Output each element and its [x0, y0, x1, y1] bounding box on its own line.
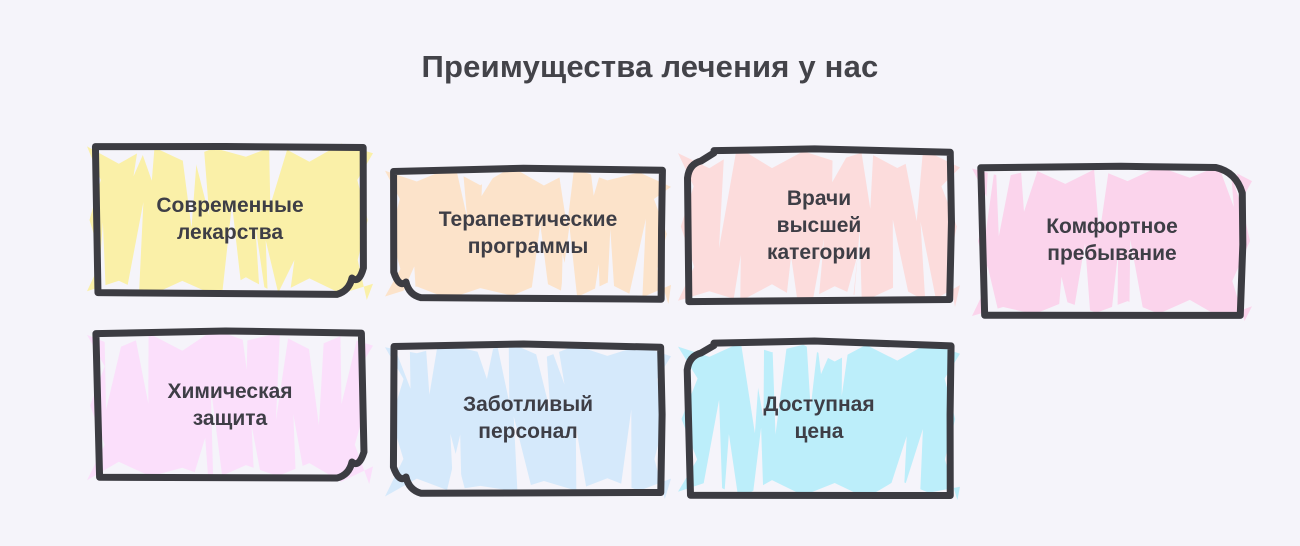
benefit-card-label: Доступная цена: [688, 344, 950, 494]
benefit-card-label: Терапевтические программы: [395, 170, 661, 298]
benefit-cards-grid: Современные лекарстваТерапевтические про…: [0, 0, 1300, 546]
benefit-card-sovremennye-lekarstva[interactable]: Современные лекарства: [97, 146, 363, 294]
benefit-card-zabotlivyy-personal[interactable]: Заботливый персонал: [395, 345, 661, 493]
benefit-card-terapevticheskie-programmy[interactable]: Терапевтические программы: [395, 170, 661, 298]
benefit-card-komfortnoe-prebyvanie[interactable]: Комфортное пребывание: [982, 167, 1242, 315]
benefit-card-label: Заботливый персонал: [395, 345, 661, 493]
benefit-card-himicheskaya-zashchita[interactable]: Химическая защита: [97, 333, 363, 478]
benefit-card-vrachi-vysshey-kategorii[interactable]: Врачи высшей категории: [688, 152, 950, 301]
benefit-card-label: Современные лекарства: [97, 146, 363, 294]
benefit-card-label: Химическая защита: [97, 333, 363, 478]
benefit-card-label: Врачи высшей категории: [688, 152, 950, 301]
benefit-card-label: Комфортное пребывание: [982, 167, 1242, 315]
infographic-root: Преимущества лечения у нас Современные л…: [0, 0, 1300, 546]
benefit-card-dostupnaya-cena[interactable]: Доступная цена: [688, 344, 950, 494]
